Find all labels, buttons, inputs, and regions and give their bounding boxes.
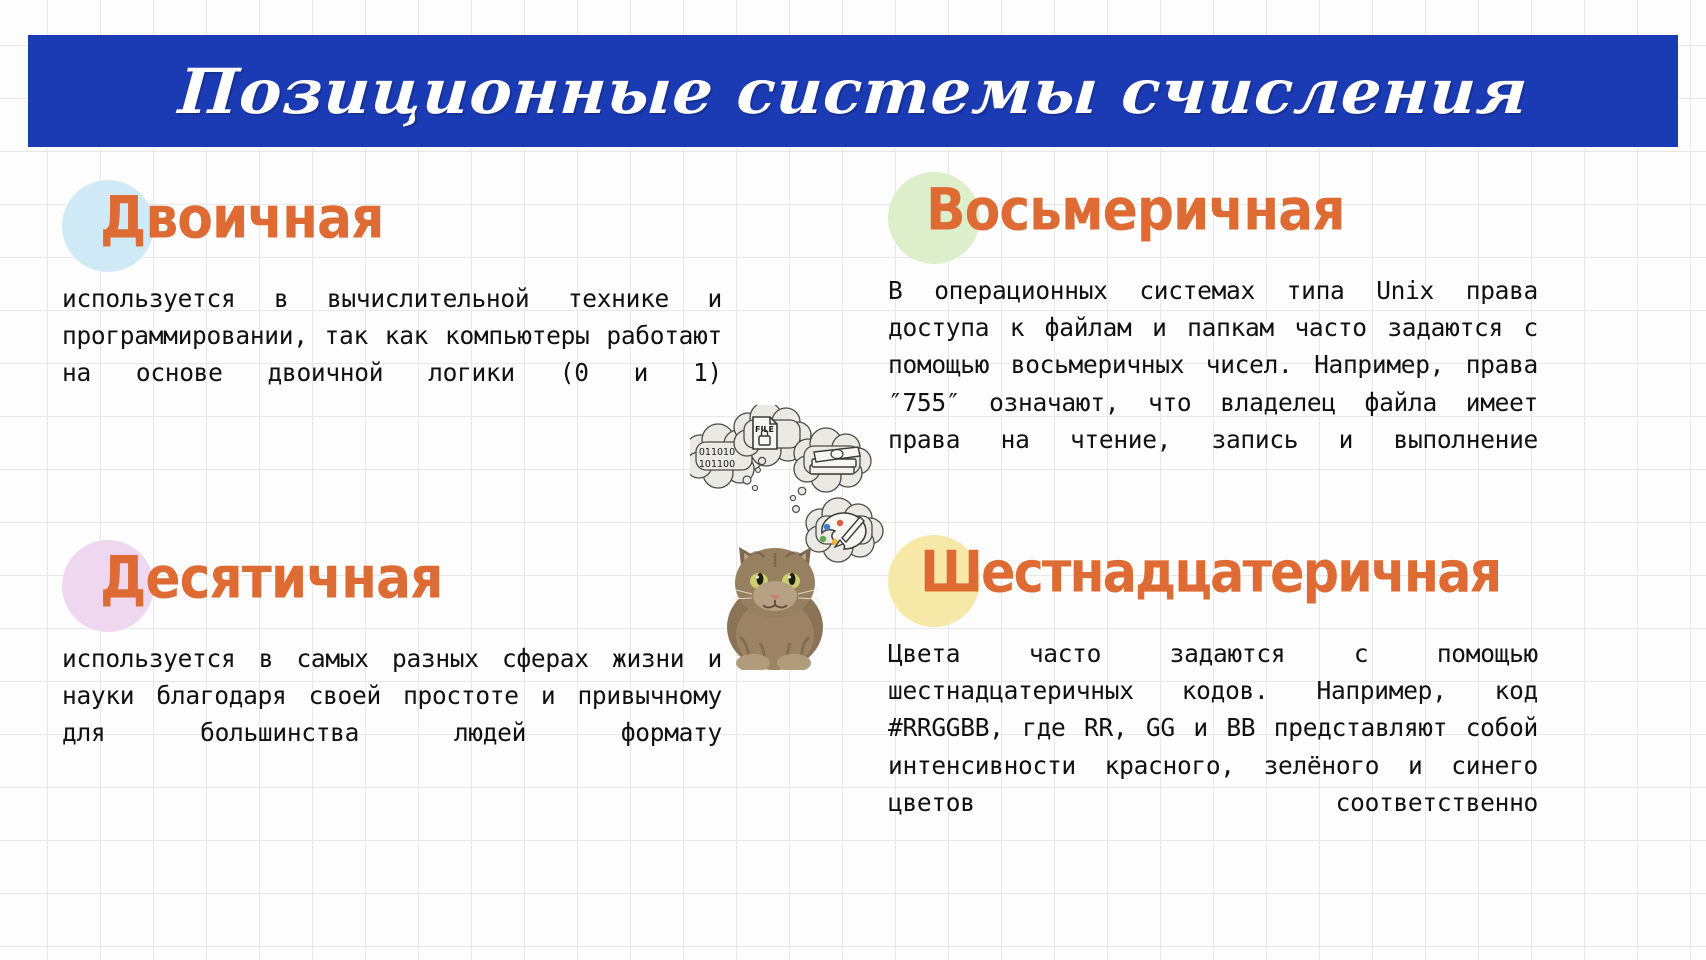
locked-file-icon: FILE [753,417,777,449]
heading-wrap-hexadecimal: Шестнадцатеричная [888,535,1538,615]
page-title: Позиционные системы счисления [176,55,1531,128]
binary-bubble-line1: 011010 [699,447,735,458]
section-body-hexadecimal: Цвета часто задаются с помощью шестнадца… [888,635,1538,858]
section-heading-binary: Двоичная [62,171,722,252]
section-body-octal: В операционных системах типа Unix права … [888,272,1538,495]
binary-bubble-line2: 101100 [699,459,735,470]
heading-wrap-binary: Двоичная [62,180,722,260]
cat-illustration: 011010 101100 FILE [690,405,905,670]
heading-wrap-octal: Восьмеричная [888,172,1538,252]
section-heading-hexadecimal: Шестнадцатеричная [888,526,1538,606]
section-hexadecimal: Шестнадцатеричная Цвета часто задаются с… [888,535,1538,858]
title-banner: Позиционные системы счисления [28,35,1678,147]
section-body-decimal: используется в самых разных сферах жизни… [62,640,722,789]
heading-wrap-decimal: Десятичная [62,540,722,620]
cat-figure [727,547,823,670]
section-octal: Восьмеричная В операционных системах тип… [888,172,1538,495]
section-decimal: Десятичная используется в самых разных с… [62,540,722,789]
section-heading-decimal: Десятичная [62,531,722,612]
section-binary: Двоичная используется в вычислительной т… [62,180,722,429]
money-stack-icon [810,447,860,474]
section-body-binary: используется в вычислительной технике и … [62,280,722,429]
section-heading-octal: Восьмеричная [888,163,1538,244]
